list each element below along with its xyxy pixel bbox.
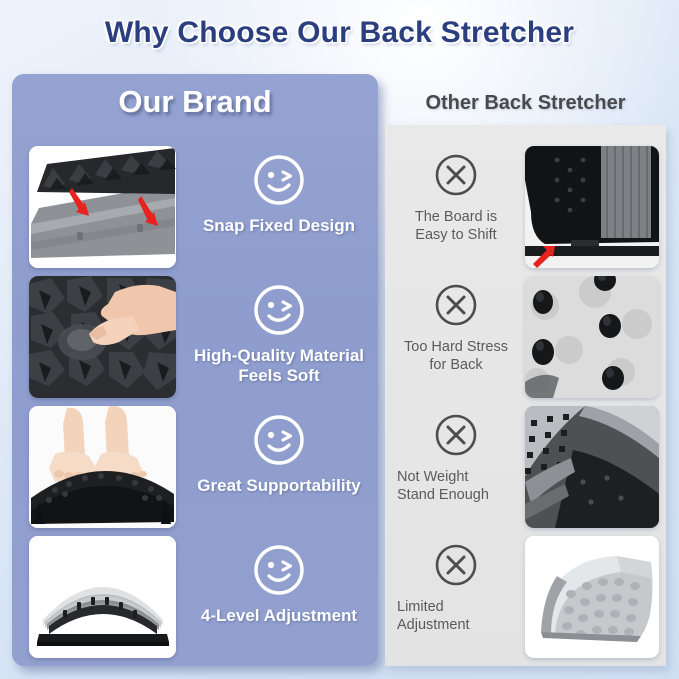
drawback-photo-limited-adjustment (525, 536, 659, 658)
other-brand-drawback-row: The Board is Easy to Shift (385, 142, 666, 272)
drawback-text: Limited Adjustment (391, 538, 521, 656)
feature-text: High-Quality Material Feels Soft (184, 280, 374, 396)
feature-label: Snap Fixed Design (203, 216, 355, 236)
feature-photo-snap-fixed-design (29, 146, 176, 268)
circle-x-icon (433, 542, 479, 588)
circle-x-icon (433, 282, 479, 328)
feature-label: Great Supportability (197, 476, 360, 496)
drawback-label: The Board is Easy to Shift (415, 208, 497, 244)
feature-label: High-Quality Material Feels Soft (194, 346, 364, 385)
page-title: Why Choose Our Back Stretcher (0, 16, 679, 50)
our-brand-feature-row: Snap Fixed Design (12, 142, 378, 272)
circle-x-icon (433, 412, 479, 458)
drawback-text: The Board is Easy to Shift (391, 148, 521, 266)
circle-x-icon (433, 152, 479, 198)
feature-text: Great Supportability (184, 410, 374, 526)
feature-label: 4-Level Adjustment (201, 606, 357, 626)
feature-photo-high-quality-material (29, 276, 176, 398)
drawback-label: Not Weight Stand Enough (391, 468, 521, 504)
winking-smiley-icon (251, 412, 307, 468)
winking-smiley-icon (251, 542, 307, 598)
drawback-photo-board-easy-to-shift (525, 146, 659, 268)
drawback-photo-too-hard-stress (525, 276, 659, 398)
our-brand-heading: Our Brand (12, 84, 378, 120)
drawback-text: Too Hard Stress for Back (391, 278, 521, 396)
our-brand-feature-row: Great Supportability (12, 402, 378, 532)
winking-smiley-icon (251, 282, 307, 338)
drawback-text: Not Weight Stand Enough (391, 408, 521, 526)
our-brand-feature-row: High-Quality Material Feels Soft (12, 272, 378, 402)
other-brand-drawback-row: Limited Adjustment (385, 532, 666, 662)
our-brand-feature-row: 4-Level Adjustment (12, 532, 378, 662)
feature-text: 4-Level Adjustment (184, 540, 374, 656)
feature-photo-4-level-adjustment (29, 536, 176, 658)
feature-photo-great-supportability (29, 406, 176, 528)
other-brand-drawback-row: Not Weight Stand Enough (385, 402, 666, 532)
winking-smiley-icon (251, 152, 307, 208)
other-brand-drawback-row: Too Hard Stress for Back (385, 272, 666, 402)
other-brand-heading: Other Back Stretcher (385, 92, 666, 115)
feature-text: Snap Fixed Design (184, 150, 374, 266)
drawback-photo-not-weight-stand-enough (525, 406, 659, 528)
drawback-label: Too Hard Stress for Back (404, 338, 508, 374)
drawback-label: Limited Adjustment (391, 598, 521, 634)
